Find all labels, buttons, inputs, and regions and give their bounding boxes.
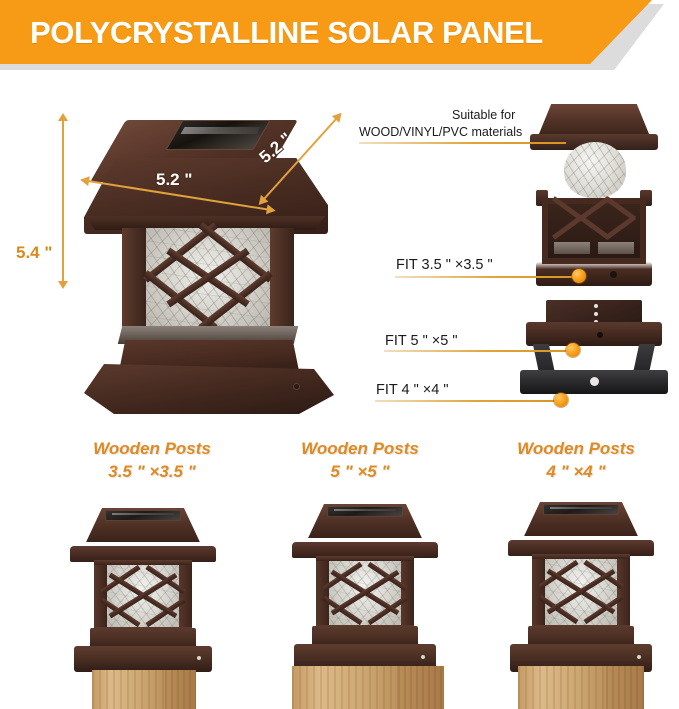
leader-line-fit-4 [375,400,562,402]
height-dimension-label: 5.4 " [16,243,52,263]
wooden-post-1 [92,670,196,709]
bottom-label-3-size: 4 " ×4 " [496,461,656,484]
product3-cap [508,494,654,556]
bottom-product-1 [58,500,228,709]
bottom-label-1-size: 3.5 " ×3.5 " [72,461,232,484]
cage-post-right [270,228,294,332]
vent-left [554,242,589,254]
leader-dot-fit-4 [554,393,568,407]
leader-line-fit-5 [384,350,574,352]
adapter-flange [526,322,662,346]
bottom-label-2-size: 5 " ×5 " [280,461,440,484]
cage-post-left [122,228,146,332]
infographic-page: POLYCRYSTALLINE SOLAR PANEL 5.4 " 5.2 " … [0,0,679,709]
stack-lattice-body [542,190,646,264]
screw-hole-icon [421,655,425,659]
screw-dots [594,304,598,322]
header-banner: POLYCRYSTALLINE SOLAR PANEL [0,0,679,72]
cage-post-right [617,554,630,630]
product1-cap [70,500,216,562]
screw-hole-icon [637,655,641,659]
bottom-label-3-title: Wooden Posts [496,438,656,461]
hero-product-image [78,112,346,404]
bottom-label-2: Wooden Posts 5 " ×5 " [280,438,440,484]
product2-cap [292,496,438,558]
post-side-face [606,666,644,709]
adapter-base-4x4 [520,370,668,394]
cage-rail-top [532,554,630,559]
leader-dot-fit-35 [572,269,586,283]
solar-panel-icon [165,120,270,150]
leader-dot-fit-5 [566,343,580,357]
product2-cage [316,556,414,630]
post-side-face [165,670,196,709]
screw-hole-icon [610,271,617,278]
callout-fit-4: FIT 4 " ×4 " [376,380,449,401]
hero-lattice-cage [122,228,294,332]
page-title: POLYCRYSTALLINE SOLAR PANEL [30,15,543,51]
screw-hole-icon [294,384,299,389]
product1-base-plate [74,646,212,672]
post-side-face [398,666,444,709]
width-dimension-label: 5.2 " [156,170,192,190]
bottom-label-3: Wooden Posts 4 " ×4 " [496,438,656,484]
screw-hole-icon [590,377,599,386]
callout-suitable-line2: WOOD/VINYL/PVC materials [359,123,522,141]
screw-hole-icon [597,332,603,338]
cage-rail-top [316,556,414,561]
bottom-product-3 [492,494,672,709]
solar-panel-icon [327,506,403,517]
callout-fit-35: FIT 3.5 " ×3.5 " [396,255,493,276]
cage-rail-top [94,560,192,565]
cage-post-left [532,554,545,630]
hero-base-plate [84,364,334,414]
callout-suitable-line1: Suitable for [452,106,515,124]
height-dimension-arrow [62,120,64,282]
product3-cage [532,554,630,630]
cage-post-right [401,556,414,630]
stack-cap-slope [538,104,651,137]
solar-panel-icon [543,504,619,515]
bottom-label-2-title: Wooden Posts [280,438,440,461]
bottom-product-2 [272,496,456,709]
bottom-label-1-title: Wooden Posts [72,438,232,461]
adapter-plate-5x5 [526,300,662,348]
leader-line-suitable [359,142,566,144]
cage-post-right [179,560,192,632]
product1-cage [94,560,192,632]
bottom-label-1: Wooden Posts 3.5 " ×3.5 " [72,438,232,484]
screw-hole-icon [197,656,201,660]
wooden-post-3 [518,666,644,709]
leader-line-fit-35 [395,276,579,278]
callout-fit-5: FIT 5 " ×5 " [385,331,458,352]
stack-base-collar [536,262,652,286]
wooden-post-2 [292,666,444,709]
solar-panel-icon [105,510,181,521]
stack-lattice [548,204,640,242]
exploded-assembly-image [512,104,672,416]
cage-post-left [94,560,107,632]
vent-right [598,242,633,254]
cage-post-left [316,556,329,630]
